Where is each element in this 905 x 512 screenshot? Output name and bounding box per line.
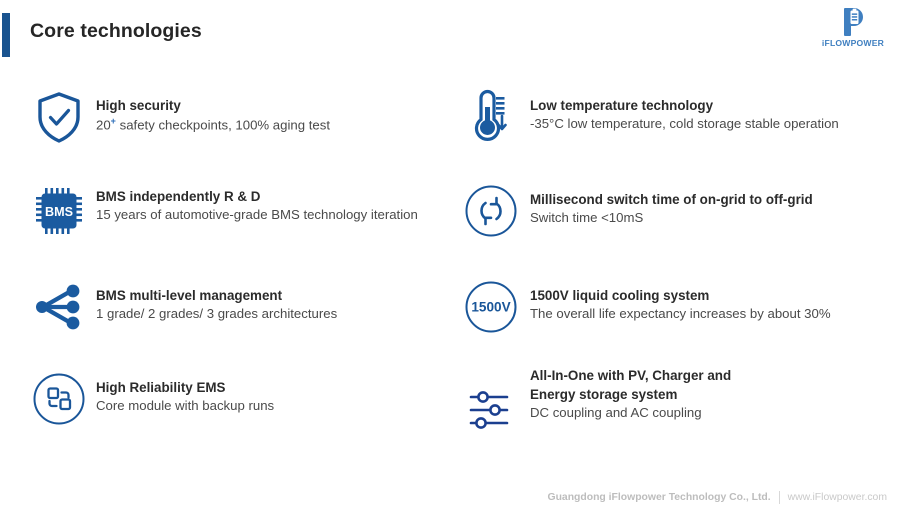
voltage-circle-icon: 1500V — [462, 278, 520, 336]
feature-text: High security 20+ safety checkpoints, 10… — [96, 96, 460, 135]
feature-item-bms-multi-level: BMS multi-level management 1 grade/ 2 gr… — [30, 276, 460, 348]
feature-desc: Switch time <10mS — [530, 209, 894, 228]
sliders-icon — [462, 382, 520, 440]
footer-website[interactable]: www.iFlowpower.com — [788, 492, 887, 503]
slide-footer: Guangdong iFlowpower Technology Co., Ltd… — [547, 491, 887, 504]
shield-check-icon — [30, 88, 88, 146]
footer-company-name: Guangdong iFlowpower Technology Co., Ltd… — [547, 492, 770, 503]
feature-title: Low temperature technology — [530, 96, 894, 115]
feature-text: All-In-One with PV, Charger and Energy s… — [530, 366, 894, 423]
share-network-icon — [30, 278, 88, 336]
feature-desc-prefix: 20 — [96, 117, 111, 132]
logo-wordmark: iFLOWPOWER — [809, 38, 897, 48]
svg-text:1500V: 1500V — [471, 300, 510, 315]
title-accent-bar — [2, 13, 10, 57]
footer-separator — [779, 491, 780, 504]
feature-text: Low temperature technology -35°C low tem… — [530, 96, 894, 134]
feature-text: 1500V liquid cooling system The overall … — [530, 286, 894, 324]
feature-item-all-in-one: All-In-One with PV, Charger and Energy s… — [462, 368, 892, 440]
feature-title: BMS independently R & D — [96, 187, 460, 206]
feature-desc: 20+ safety checkpoints, 100% aging test — [96, 115, 460, 135]
switch-cycle-icon — [462, 182, 520, 240]
feature-desc: 15 years of automotive-grade BMS technol… — [96, 206, 460, 225]
feature-title: High Reliability EMS — [96, 378, 460, 397]
feature-item-high-reliability-ems: High Reliability EMS Core module with ba… — [30, 368, 460, 440]
feature-title: BMS multi-level management — [96, 286, 460, 305]
feature-title: 1500V liquid cooling system — [530, 286, 894, 305]
brand-logo: iFLOWPOWER — [809, 6, 897, 54]
feature-item-bms-rd: BMS BMS independently R & D 15 years of … — [30, 180, 460, 252]
feature-item-millisecond-switch: Millisecond switch time of on-grid to of… — [462, 180, 892, 252]
feature-text: Millisecond switch time of on-grid to of… — [530, 190, 894, 228]
page-title: Core technologies — [30, 20, 202, 43]
feature-desc: Core module with backup runs — [96, 397, 460, 416]
feature-title-line2: Energy storage system — [530, 385, 894, 404]
feature-text: BMS multi-level management 1 grade/ 2 gr… — [96, 286, 460, 324]
feature-item-high-security: High security 20+ safety checkpoints, 10… — [30, 86, 460, 158]
svg-text:BMS: BMS — [45, 205, 73, 219]
features-grid: High security 20+ safety checkpoints, 10… — [0, 86, 905, 456]
ems-module-backup-icon — [30, 370, 88, 428]
feature-title-line1: All-In-One with PV, Charger and — [530, 366, 894, 385]
feature-text: High Reliability EMS Core module with ba… — [96, 378, 460, 416]
battery-p-logo-icon — [841, 6, 867, 36]
feature-text: BMS independently R & D 15 years of auto… — [96, 187, 460, 225]
feature-item-liquid-cooling: 1500V 1500V liquid cooling system The ov… — [462, 276, 892, 348]
feature-title: Millisecond switch time of on-grid to of… — [530, 190, 894, 209]
feature-desc: -35°C low temperature, cold storage stab… — [530, 115, 894, 134]
feature-desc-suffix: safety checkpoints, 100% aging test — [116, 117, 330, 132]
thermometer-icon — [462, 88, 520, 146]
feature-desc: DC coupling and AC coupling — [530, 404, 894, 423]
feature-title: High security — [96, 96, 460, 115]
feature-desc: 1 grade/ 2 grades/ 3 grades architecture… — [96, 305, 460, 324]
slide-header: Core technologies iFLOWPOWER — [0, 0, 905, 68]
bms-chip-icon: BMS — [30, 182, 88, 240]
feature-item-low-temperature: Low temperature technology -35°C low tem… — [462, 86, 892, 158]
feature-desc: The overall life expectancy increases by… — [530, 305, 894, 324]
